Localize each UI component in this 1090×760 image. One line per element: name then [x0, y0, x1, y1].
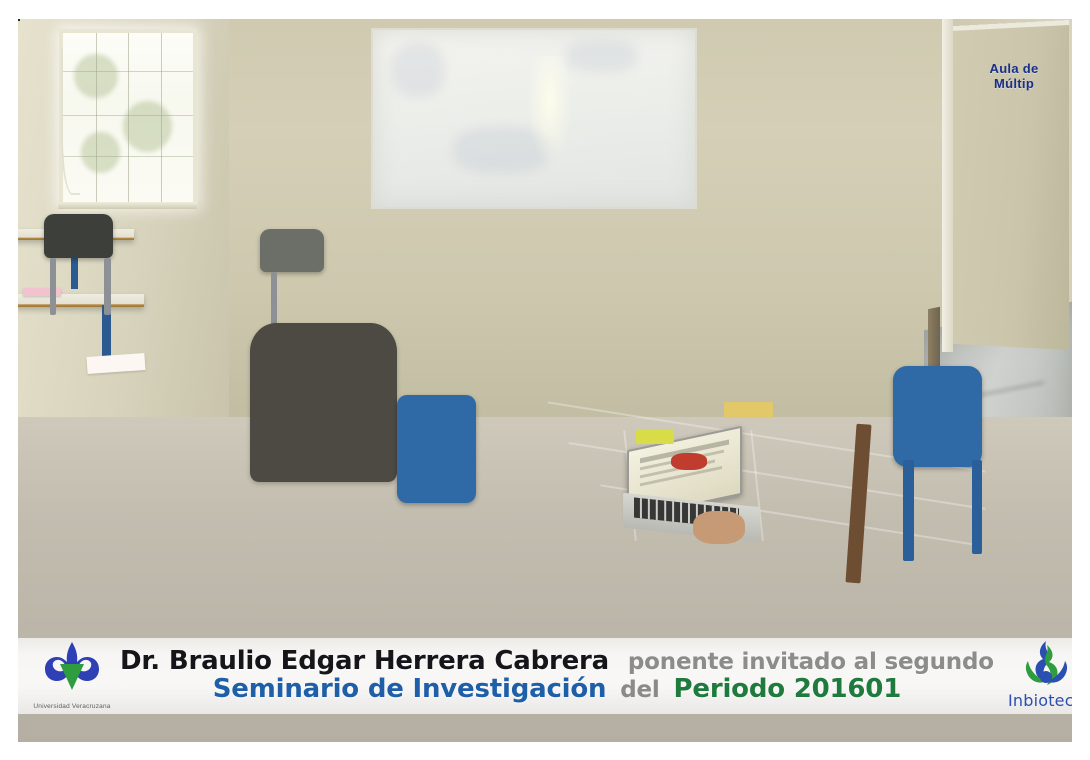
event-period: Periodo 201601: [674, 674, 902, 704]
universidad-veracruzana-caption: Universidad Veracruzana: [24, 703, 120, 710]
chair-blue-right: [893, 366, 983, 467]
screenshot-root: Aula de Múltip: [0, 0, 1090, 760]
fleur-de-lis-icon: [44, 642, 100, 692]
window-sill: [58, 202, 197, 209]
whiteboard: [371, 28, 696, 209]
inbioteca-caption: Inbioteca: [994, 691, 1072, 710]
speaker-role: ponente invitado al segundo: [628, 649, 994, 675]
chair-leg: [972, 460, 983, 554]
chair-leg: [50, 258, 56, 316]
chair-blue-mid: [397, 395, 476, 503]
speaker-name: Dr. Braulio Edgar Herrera Cabrera: [120, 646, 609, 676]
chair-empty-mid: [260, 229, 323, 272]
inbioteca-plant-icon: [1020, 639, 1072, 689]
window: [63, 33, 193, 203]
folder-on-chair: [636, 430, 674, 444]
chair-empty-back: [44, 214, 113, 257]
door-jamb: [942, 19, 953, 352]
caption-banner: Universidad Veracruzana Dr. Braulio Edga…: [18, 638, 1072, 714]
photograph-frame: Aula de Múltip: [18, 19, 1072, 742]
universidad-veracruzana-logo: Universidad Veracruzana: [24, 640, 120, 712]
jacket-on-chair: [250, 323, 398, 482]
caption-connector: del: [620, 677, 659, 703]
notebook: [724, 402, 772, 418]
chair-leg: [903, 460, 914, 561]
door-sign-line-1: Aula de: [967, 62, 1062, 77]
door-sign-line-2: Múltip: [967, 77, 1062, 92]
bag-on-floor: [671, 453, 707, 470]
caption-line-2: Seminario de Investigación del Periodo 2…: [120, 676, 994, 703]
chair-leg: [104, 258, 110, 316]
caption-line-1: Dr. Braulio Edgar Herrera Cabrera ponent…: [120, 648, 994, 675]
event-name: Seminario de Investigación: [213, 674, 607, 704]
window-cable: [61, 48, 80, 195]
inbioteca-logo: Inbioteca: [994, 639, 1072, 713]
door-sign: Aula de Múltip: [967, 62, 1062, 92]
photograph: Aula de Múltip: [18, 19, 1072, 742]
caption-text: Dr. Braulio Edgar Herrera Cabrera ponent…: [120, 648, 994, 704]
hand-on-laptop: [693, 511, 746, 544]
